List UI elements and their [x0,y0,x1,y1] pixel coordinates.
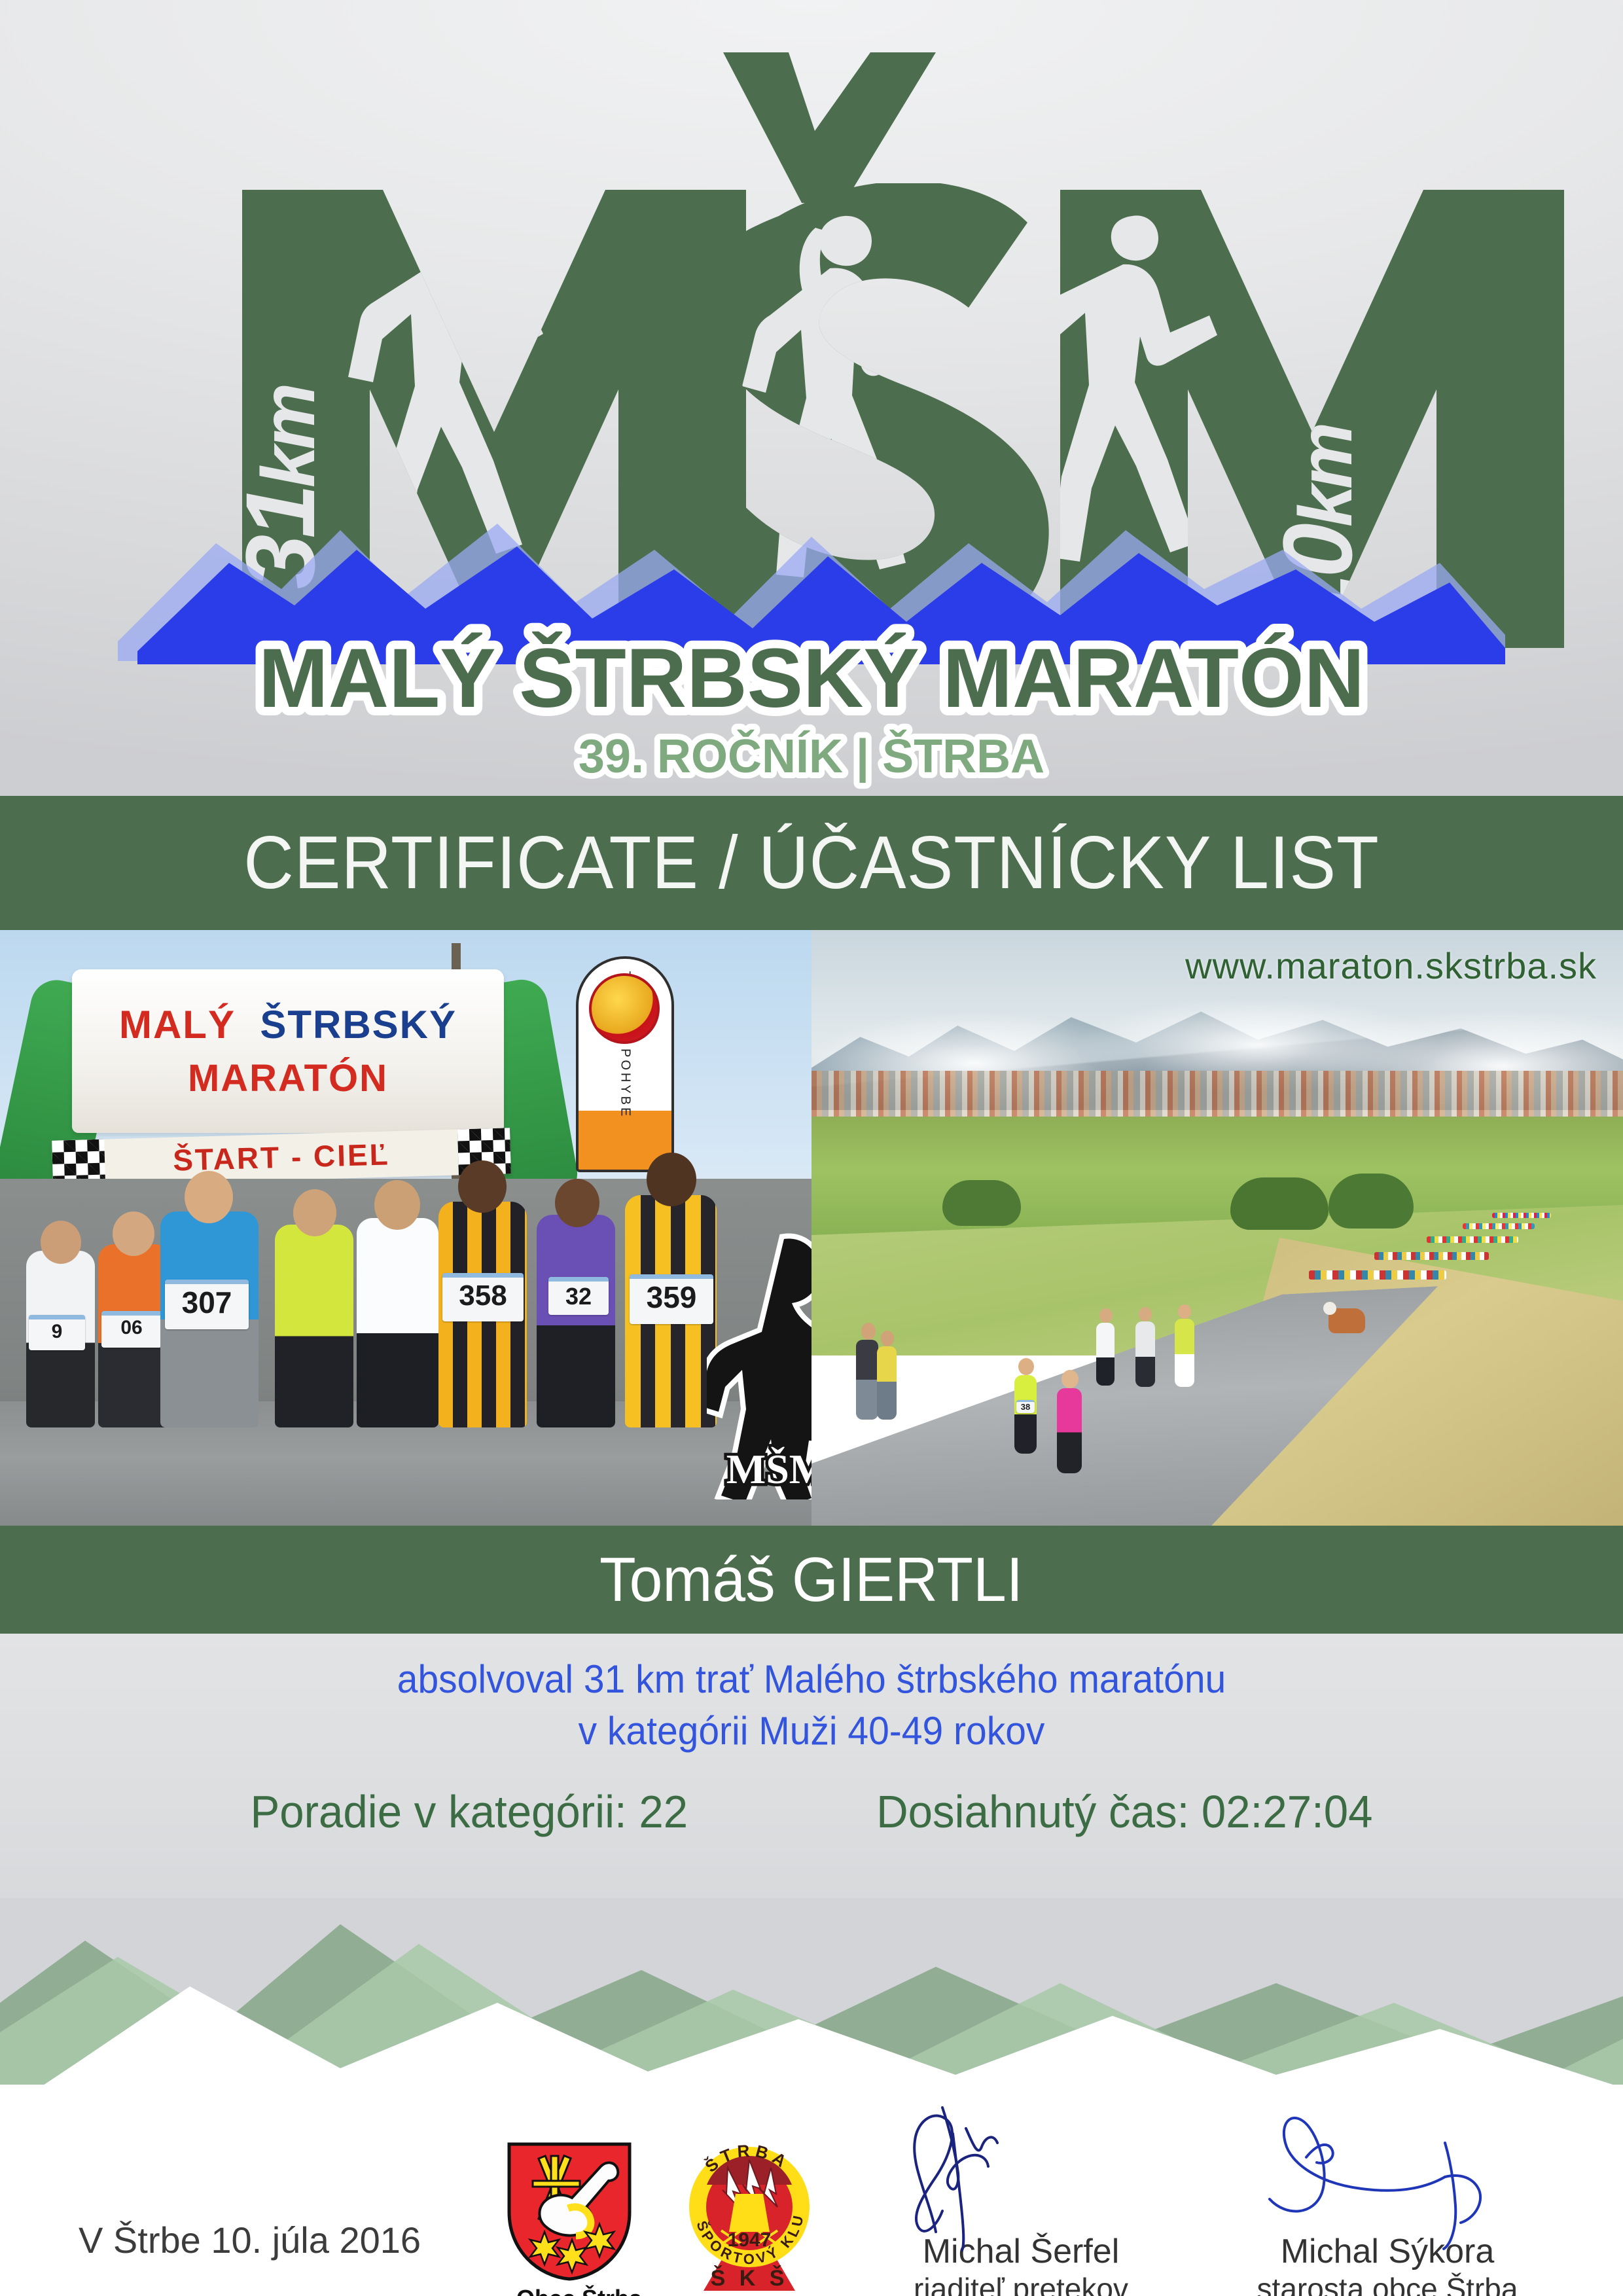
bib-number: 359 [630,1274,713,1324]
photo-countryside-road: 38 www.maraton.skstrba.sk [811,930,1623,1526]
photo-strip: MALÝ ŠTRBSKÝ MARATÓN ŠTART - CIEĽ TATRY … [0,930,1623,1526]
runner-head [113,1211,154,1256]
runner-head [555,1179,599,1227]
runner-head [41,1221,81,1264]
arch-word-maly: MALÝ [119,1003,236,1047]
signature-role: riaditeľ pretekov [838,2271,1204,2296]
tree [1230,1177,1329,1230]
event-title: MALÝ ŠTRBSKÝ MARATÓN [259,632,1364,725]
arch-banner: MALÝ ŠTRBSKÝ MARATÓN [72,969,504,1133]
results-row: Poradie v kategórii: 22 Dosiahnutý čas: … [33,1785,1591,1838]
signature-ink-serfel [838,2094,1204,2251]
spectator-head [861,1323,876,1340]
runner-head [1018,1358,1034,1375]
achieved-time: Dosiahnutý čas: 02:27:04 [876,1785,1372,1838]
runner [275,1225,353,1427]
signature-ink-sykora [1204,2094,1571,2251]
certificate-page: 31km 10km MALÝ ŠTRBSKÝ M [0,0,1623,2296]
arch-word-maraton: MARATÓN [188,1057,388,1100]
sks-svg: 1947 ŠTRBA ŠPORTOVÝ KLUB Š K Š [681,2134,818,2296]
participant-name-band: Tomáš GIERTLI [0,1526,1623,1634]
crest-label: Obec Štrba [504,2285,654,2296]
cutout-msm-text: MŠM [726,1446,811,1492]
description-line-1: absolvoval 31 km trať Malého štrbského m… [41,1653,1582,1705]
certificate-title: CERTIFICATE / ÚČASTNÍCKY LIST [243,820,1379,906]
crest-svg [504,2140,635,2281]
runner-head [185,1171,233,1223]
sks-bottom-text: Š K Š [711,2265,789,2291]
sks-badge-photo [589,973,660,1044]
signature-role: starosta obce Štrba [1204,2271,1571,2296]
footer: V Štrbe 10. júla 2016 Obec Št [0,2029,1623,2296]
participant-name: Tomáš GIERTLI [599,1544,1023,1616]
runner [537,1215,615,1427]
runner-head [293,1189,336,1236]
arch-text-line1: MALÝ ŠTRBSKÝ [119,1002,457,1047]
runner-trail [1374,1252,1489,1260]
logo-hero: 31km 10km MALÝ ŠTRBSKÝ M [0,0,1623,796]
signature-block-mayor: Michal Sýkora starosta obce Štrba [1204,2232,1571,2296]
runner [357,1218,438,1427]
bib-number: 358 [442,1273,524,1321]
bib-number: 32 [548,1277,609,1315]
sks-logo: 1947 ŠTRBA ŠPORTOVÝ KLUB Š K Š [681,2134,831,2296]
spectator [877,1346,897,1420]
tree [1329,1174,1414,1229]
runner-head [1139,1307,1152,1321]
spectator-head [881,1331,894,1346]
arch-text-line2: MARATÓN [188,1056,388,1100]
obec-strba-crest: Obec Štrba [504,2140,654,2296]
description: absolvoval 31 km trať Malého štrbského m… [41,1653,1582,1757]
photo-start-line: MALÝ ŠTRBSKÝ MARATÓN ŠTART - CIEĽ TATRY … [0,930,811,1526]
runner-head [458,1160,507,1213]
signature-block-director: Michal Šerfel riaditeľ pretekov [838,2232,1204,2296]
website-url: www.maraton.skstrba.sk [1185,944,1597,987]
description-line-2: v kategórii Muži 40-49 rokov [41,1705,1582,1757]
runner-head [1061,1370,1079,1388]
runner-head [647,1153,696,1206]
runner-head [374,1180,420,1230]
runner [1135,1321,1155,1387]
event-subtitle: 39. ROČNÍK | ŠTRBA [579,730,1044,783]
inflatable-start-arch: MALÝ ŠTRBSKÝ MARATÓN ŠTART - CIEĽ [13,969,550,1166]
certificate-title-band: CERTIFICATE / ÚČASTNÍCKY LIST [0,796,1623,930]
spectator [856,1340,878,1420]
runner-trail [1463,1223,1535,1229]
runner [1175,1319,1194,1387]
runner [1014,1375,1037,1454]
caron-accent [723,52,936,203]
runner [1057,1388,1082,1473]
runner [1096,1323,1115,1386]
runner-trail [1492,1213,1551,1218]
arch-word-strbsky: ŠTRBSKÝ [260,1003,457,1047]
bib-number: 06 [101,1311,162,1348]
rank-in-category: Poradie v kategórii: 22 [250,1785,688,1838]
bib-number: 38 [1016,1400,1035,1413]
bib-number: 9 [29,1315,85,1350]
issue-date: V Štrbe 10. júla 2016 [79,2219,421,2261]
msm-logo: 31km 10km MALÝ ŠTRBSKÝ M [0,0,1623,796]
runner-head [1178,1304,1191,1319]
sks-year: 1947 [728,2229,772,2251]
runner-trail [1309,1270,1446,1280]
runner-head [1099,1308,1113,1323]
cow-head [1323,1302,1336,1315]
msm-runner-cutout-sign: MŠM [707,1225,811,1499]
runner-trail [1427,1236,1518,1243]
bib-number: 307 [165,1280,249,1329]
tree [942,1180,1021,1226]
